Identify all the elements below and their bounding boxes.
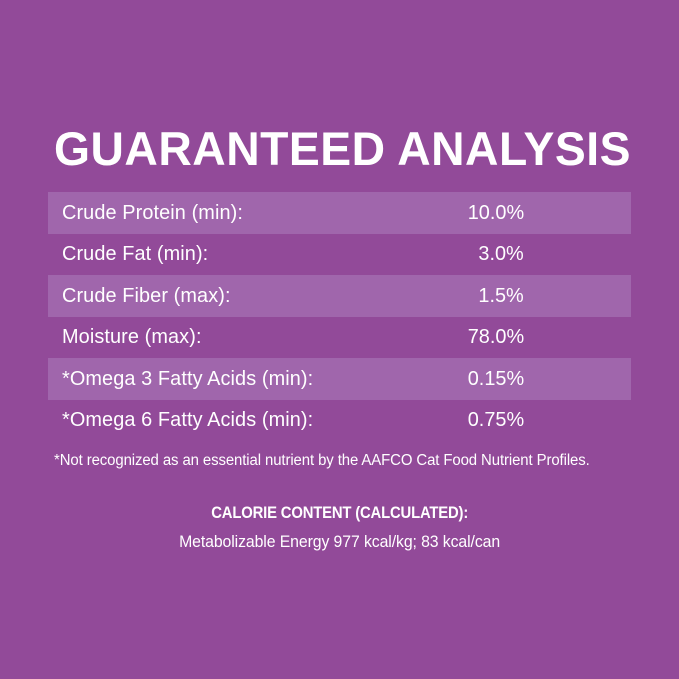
nutrient-label: Moisture (max):	[62, 325, 454, 349]
nutrient-value: 0.15%	[468, 367, 524, 391]
nutrient-label: Crude Fiber (max):	[62, 284, 465, 308]
nutrient-value: 78.0%	[468, 325, 524, 349]
guaranteed-analysis-panel: GUARANTEED ANALYSIS Crude Protein (min):…	[0, 0, 679, 679]
table-row: Crude Fat (min): 3.0%	[48, 234, 631, 276]
table-row: *Omega 3 Fatty Acids (min): 0.15%	[48, 358, 631, 400]
table-row: Crude Protein (min): 10.0%	[48, 192, 631, 234]
calorie-content-heading-wrap: CALORIE CONTENT (CALCULATED):	[0, 503, 679, 524]
nutrient-label: *Omega 6 Fatty Acids (min):	[62, 408, 454, 432]
calorie-content-body: Metabolizable Energy 977 kcal/kg; 83 kca…	[179, 531, 500, 553]
calorie-content-block: CALORIE CONTENT (CALCULATED): Metaboliza…	[0, 503, 679, 553]
table-row: Moisture (max): 78.0%	[48, 317, 631, 359]
calorie-content-heading: CALORIE CONTENT (CALCULATED):	[211, 503, 468, 524]
nutrient-value: 3.0%	[479, 242, 524, 266]
page-title: GUARANTEED ANALYSIS	[54, 124, 621, 174]
nutrient-value: 1.5%	[479, 284, 524, 308]
table-row: *Omega 6 Fatty Acids (min): 0.75%	[48, 400, 631, 442]
nutrient-label: Crude Fat (min):	[62, 242, 465, 266]
nutrient-value: 0.75%	[468, 408, 524, 432]
nutrient-label: Crude Protein (min):	[62, 201, 454, 225]
nutrient-value: 10.0%	[468, 201, 524, 225]
table-row: Crude Fiber (max): 1.5%	[48, 275, 631, 317]
calorie-content-body-wrap: Metabolizable Energy 977 kcal/kg; 83 kca…	[0, 524, 679, 553]
footnote: *Not recognized as an essential nutrient…	[54, 451, 617, 471]
analysis-table: Crude Protein (min): 10.0% Crude Fat (mi…	[48, 192, 631, 441]
nutrient-label: *Omega 3 Fatty Acids (min):	[62, 367, 454, 391]
